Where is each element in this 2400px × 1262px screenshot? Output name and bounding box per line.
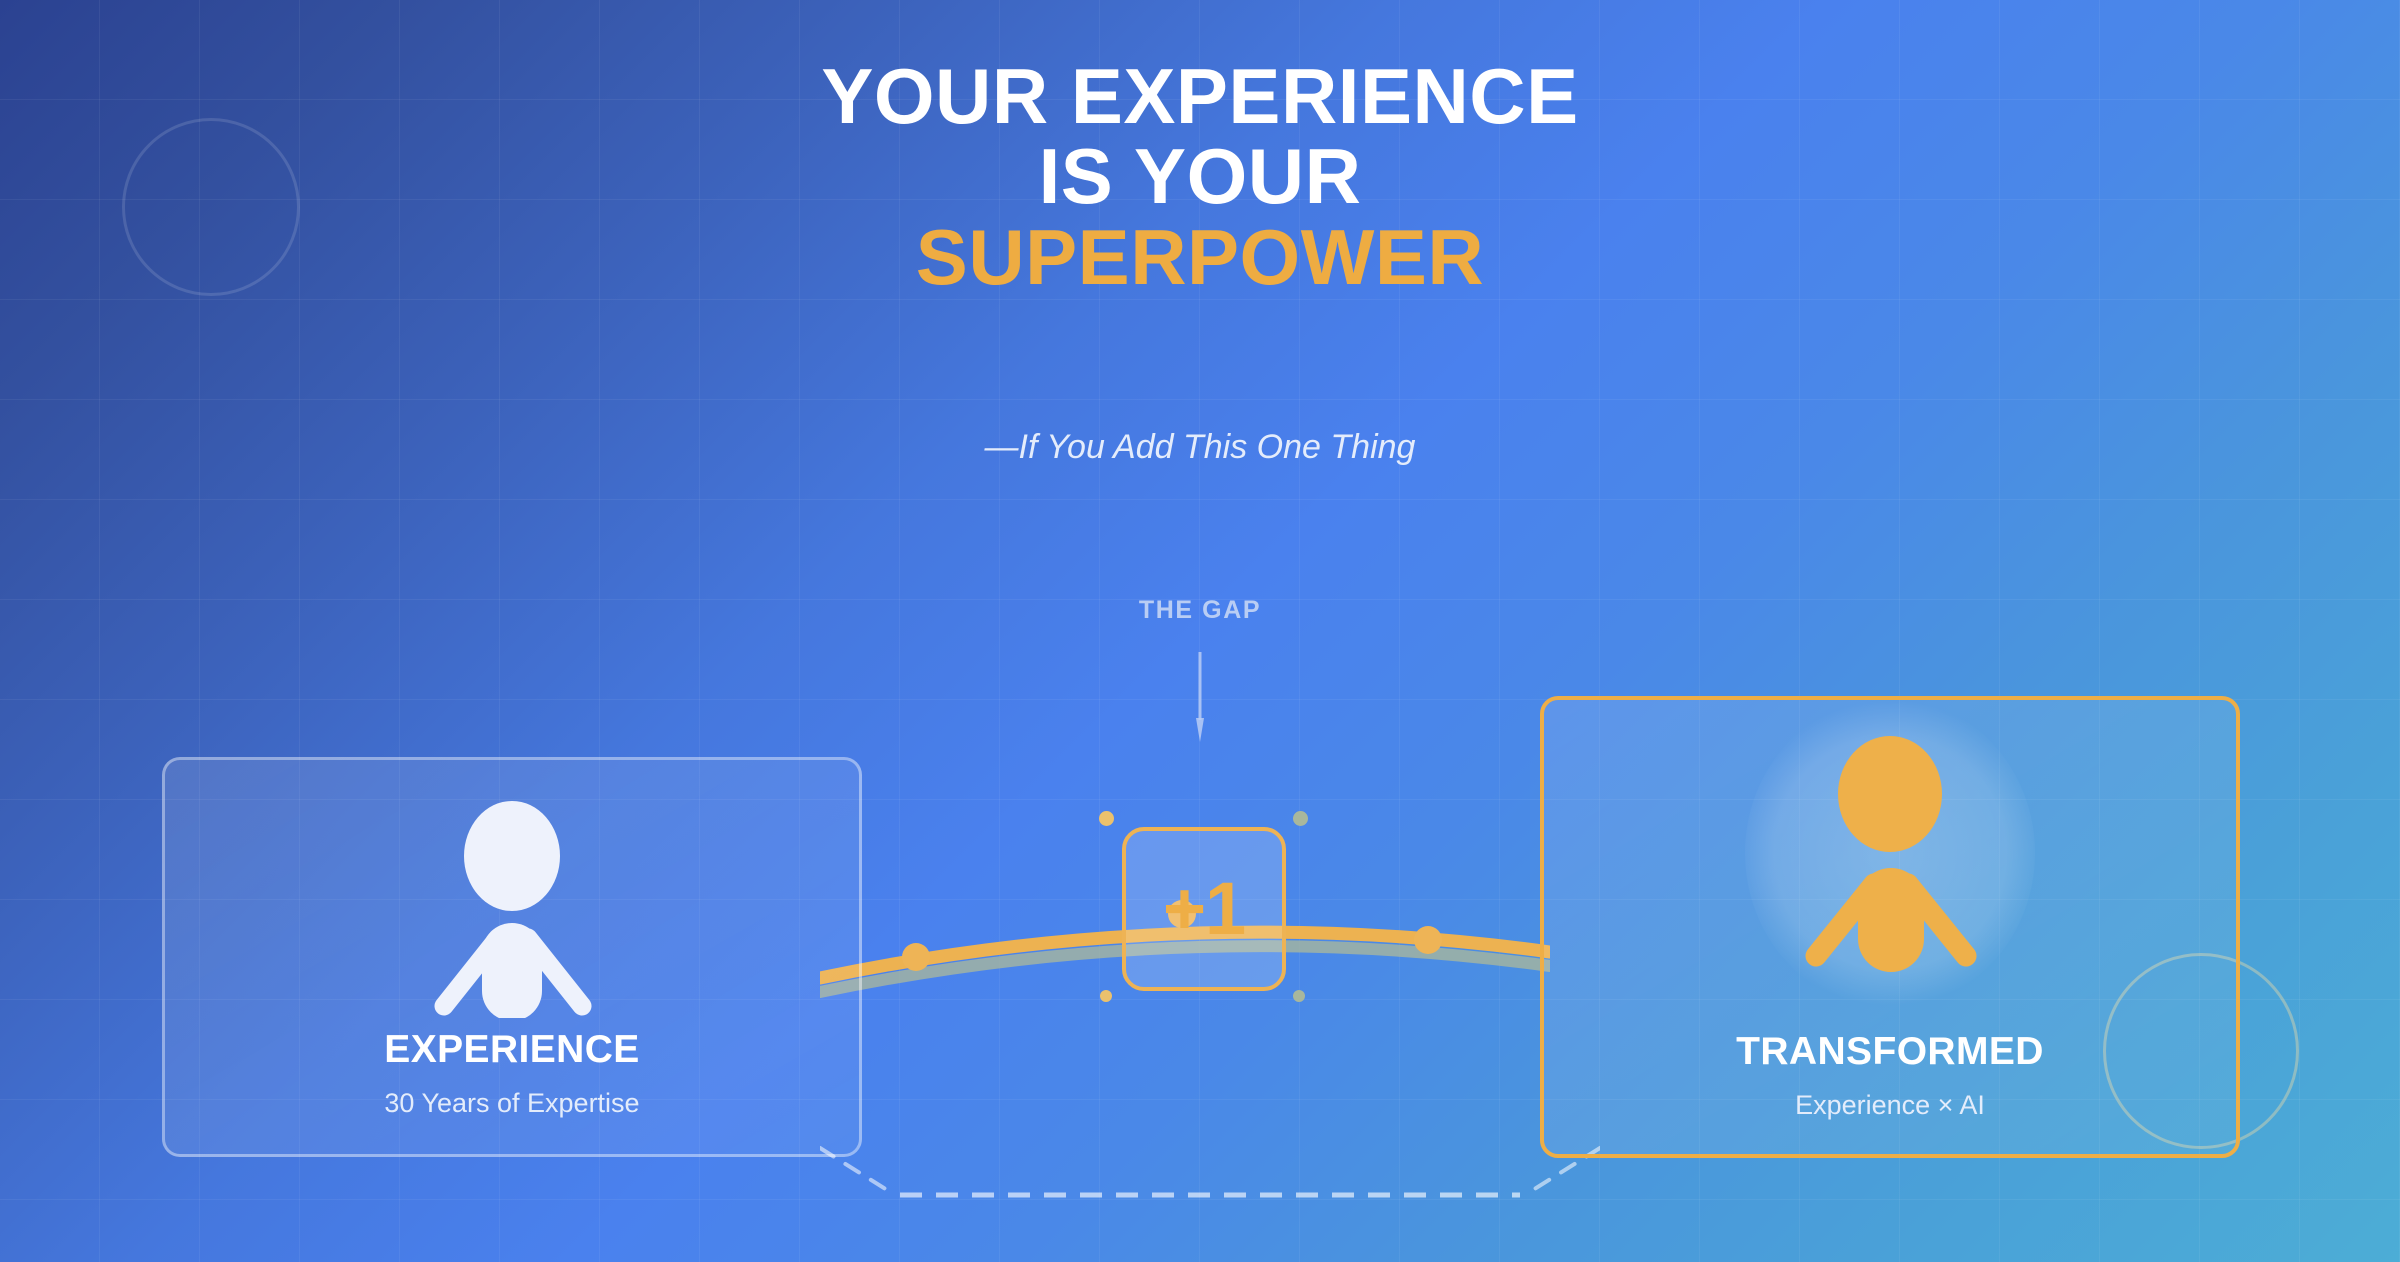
infographic-slide: YOUR EXPERIENCE IS YOUR SUPERPOWER —If Y…	[0, 0, 2400, 1262]
spark-dot-top-right	[1293, 811, 1308, 826]
spark-dot-top-left	[1099, 811, 1114, 826]
card-transformed[interactable]: TRANSFORMED Experience × AI	[1540, 696, 2240, 1158]
headline-subtitle: —If You Add This One Thing	[0, 428, 2400, 467]
headline-line-2: IS YOUR	[0, 136, 2400, 216]
plus-one-badge[interactable]: +1	[1122, 827, 1286, 991]
bridge-node	[902, 943, 930, 971]
card-subtitle-experience: 30 Years of Expertise	[165, 1088, 859, 1119]
bridge-node	[1414, 926, 1442, 954]
dashed-baseline	[820, 1140, 1600, 1250]
gap-label: THE GAP	[1110, 596, 1290, 625]
plus-one-label: +1	[1163, 872, 1245, 946]
person-figure-icon	[382, 798, 642, 1018]
arrow-down-icon	[1196, 652, 1204, 742]
spark-dot-bottom-right	[1293, 990, 1305, 1002]
card-subtitle-transformed: Experience × AI	[1544, 1090, 2236, 1121]
card-title-experience: EXPERIENCE	[165, 1028, 859, 1072]
person-figure-glow-icon	[1750, 728, 2030, 978]
headline-block: YOUR EXPERIENCE IS YOUR SUPERPOWER	[0, 56, 2400, 297]
spark-dot-bottom-left	[1100, 990, 1112, 1002]
headline-accent: SUPERPOWER	[0, 217, 2400, 297]
headline-line-1: YOUR EXPERIENCE	[0, 56, 2400, 136]
card-title-transformed: TRANSFORMED	[1544, 1030, 2236, 1074]
card-experience[interactable]: EXPERIENCE 30 Years of Expertise	[162, 757, 862, 1157]
